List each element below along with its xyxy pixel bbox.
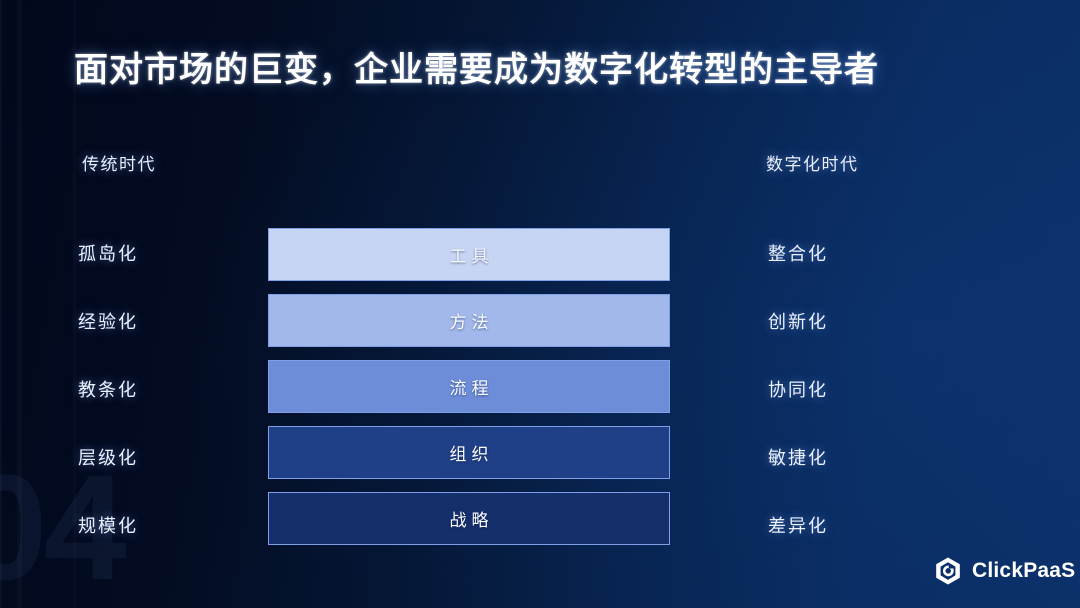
list-item: 差异化 bbox=[768, 497, 958, 552]
list-item: 创新化 bbox=[768, 293, 958, 348]
page-title: 面对市场的巨变，企业需要成为数字化转型的主导者 bbox=[74, 42, 879, 91]
brand-name: ClickPaaS bbox=[972, 559, 1075, 583]
bar-row: 流程 bbox=[268, 360, 670, 413]
bar-row: 组织 bbox=[268, 426, 670, 479]
list-item: 层级化 bbox=[78, 429, 268, 484]
bar-label: 战略 bbox=[445, 506, 494, 531]
list-item: 敏捷化 bbox=[768, 429, 958, 484]
bar-label: 流程 bbox=[445, 374, 494, 399]
right-column-list: 整合化 创新化 协同化 敏捷化 差异化 bbox=[768, 225, 958, 565]
hexagon-cube-icon bbox=[933, 556, 963, 586]
list-item: 经验化 bbox=[78, 293, 268, 348]
bar-label: 方法 bbox=[445, 308, 494, 333]
left-column-list: 孤岛化 经验化 教条化 层级化 规模化 bbox=[78, 225, 268, 565]
bar-label: 工具 bbox=[445, 242, 494, 267]
column-header-traditional: 传统时代 bbox=[82, 150, 156, 175]
list-item: 教条化 bbox=[78, 361, 268, 416]
list-item: 协同化 bbox=[768, 361, 958, 416]
column-header-digital: 数字化时代 bbox=[766, 150, 859, 175]
bar-row: 方法 bbox=[268, 294, 670, 347]
bar-row: 工具 bbox=[268, 228, 670, 281]
slide-canvas: 04 面对市场的巨变，企业需要成为数字化转型的主导者 传统时代 数字化时代 孤岛… bbox=[0, 0, 1080, 608]
center-bar-stack: 工具 方法 流程 组织 战略 bbox=[268, 228, 670, 558]
brand-logo: ClickPaaS bbox=[933, 556, 1075, 586]
list-item: 孤岛化 bbox=[78, 225, 268, 280]
bar-label: 组织 bbox=[445, 440, 494, 465]
list-item: 整合化 bbox=[768, 225, 958, 280]
bar-row: 战略 bbox=[268, 492, 670, 545]
list-item: 规模化 bbox=[78, 497, 268, 552]
